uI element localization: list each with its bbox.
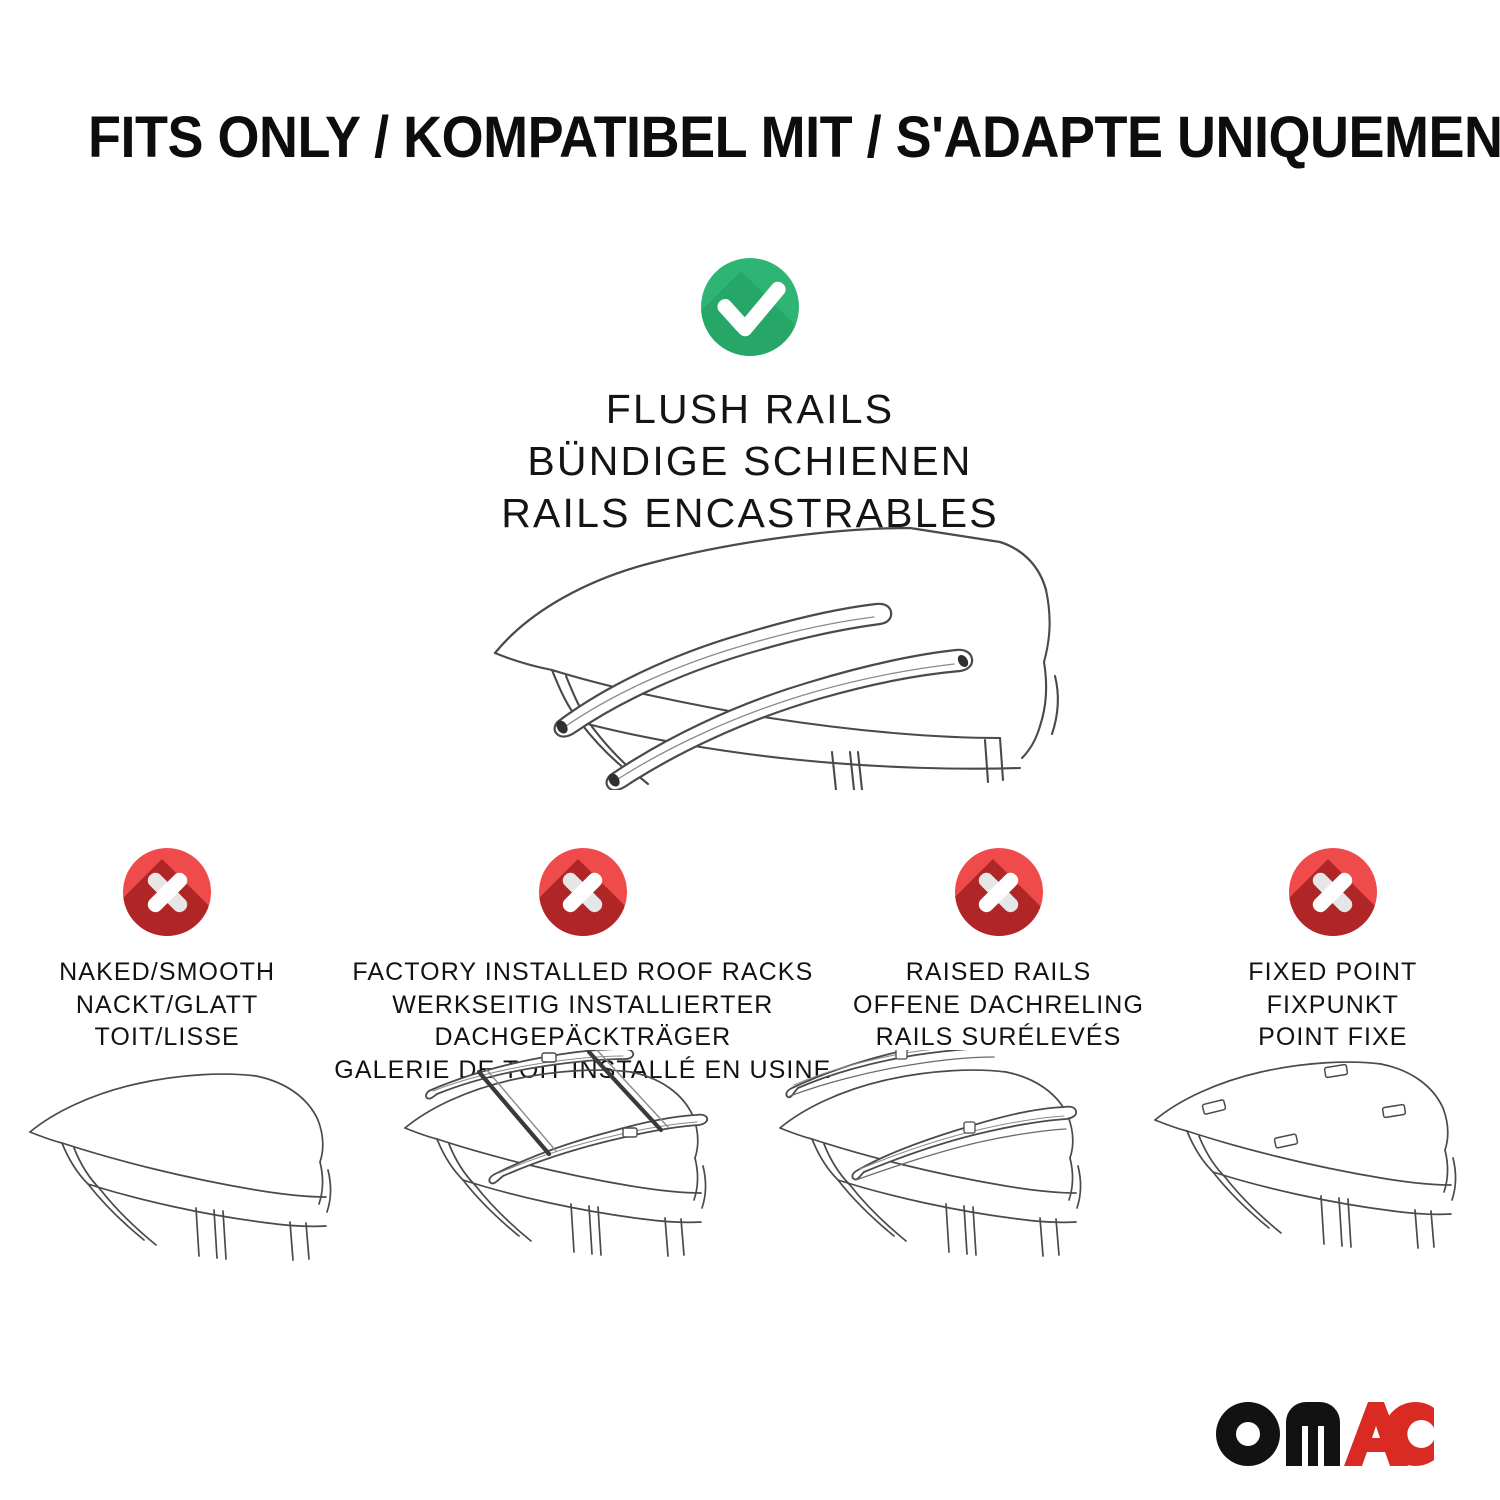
label-line: WERKSEITIG INSTALLIERTER bbox=[334, 989, 831, 1022]
x-circle-icon bbox=[1289, 848, 1377, 936]
x-glyph bbox=[955, 848, 1043, 936]
logo-letter-m bbox=[1286, 1402, 1340, 1466]
x-glyph bbox=[539, 848, 627, 936]
rejected-option-label: NAKED/SMOOTH NACKT/GLATT TOIT/LISSE bbox=[59, 956, 275, 1054]
x-glyph bbox=[123, 848, 211, 936]
label-line: RAISED RAILS bbox=[853, 956, 1144, 989]
x-glyph bbox=[1289, 848, 1377, 936]
label-line: FIXED POINT bbox=[1248, 956, 1417, 989]
label-line: POINT FIXE bbox=[1248, 1021, 1417, 1054]
label-line: FACTORY INSTALLED ROOF RACKS bbox=[334, 956, 831, 989]
label-line: FIXPUNKT bbox=[1248, 989, 1417, 1022]
check-glyph bbox=[701, 258, 799, 356]
car-roof-fixed-point-illustration bbox=[1125, 1050, 1500, 1265]
label-line: NACKT/GLATT bbox=[59, 989, 275, 1022]
car-roof-raised-rails-illustration bbox=[750, 1050, 1125, 1265]
logo-letter-o bbox=[1216, 1402, 1280, 1466]
label-line: NAKED/SMOOTH bbox=[59, 956, 275, 989]
label-line: TOIT/LISSE bbox=[59, 1021, 275, 1054]
car-roof-naked-illustration bbox=[0, 1050, 375, 1265]
x-circle-icon bbox=[123, 848, 211, 936]
car-roof-flush-rails-illustration bbox=[440, 490, 1080, 790]
approved-label-en: FLUSH RAILS bbox=[0, 383, 1500, 435]
label-line: OFFENE DACHRELING bbox=[853, 989, 1144, 1022]
check-circle-icon bbox=[701, 258, 799, 356]
rejected-option-label: FIXED POINT FIXPUNKT POINT FIXE bbox=[1248, 956, 1417, 1054]
x-circle-icon bbox=[955, 848, 1043, 936]
car-roof-factory-racks-illustration bbox=[375, 1050, 750, 1265]
page-title: FITS ONLY / KOMPATIBEL MIT / S'ADAPTE UN… bbox=[88, 108, 1334, 169]
rejected-illustrations-row bbox=[0, 1050, 1500, 1265]
approved-label-de: BÜNDIGE SCHIENEN bbox=[0, 435, 1500, 487]
omac-logo bbox=[1216, 1398, 1436, 1470]
rejected-option-label: RAISED RAILS OFFENE DACHRELING RAILS SUR… bbox=[853, 956, 1144, 1054]
label-line: DACHGEPÄCKTRÄGER bbox=[334, 1021, 831, 1054]
x-circle-icon bbox=[539, 848, 627, 936]
label-line: RAILS SURÉLEVÉS bbox=[853, 1021, 1144, 1054]
